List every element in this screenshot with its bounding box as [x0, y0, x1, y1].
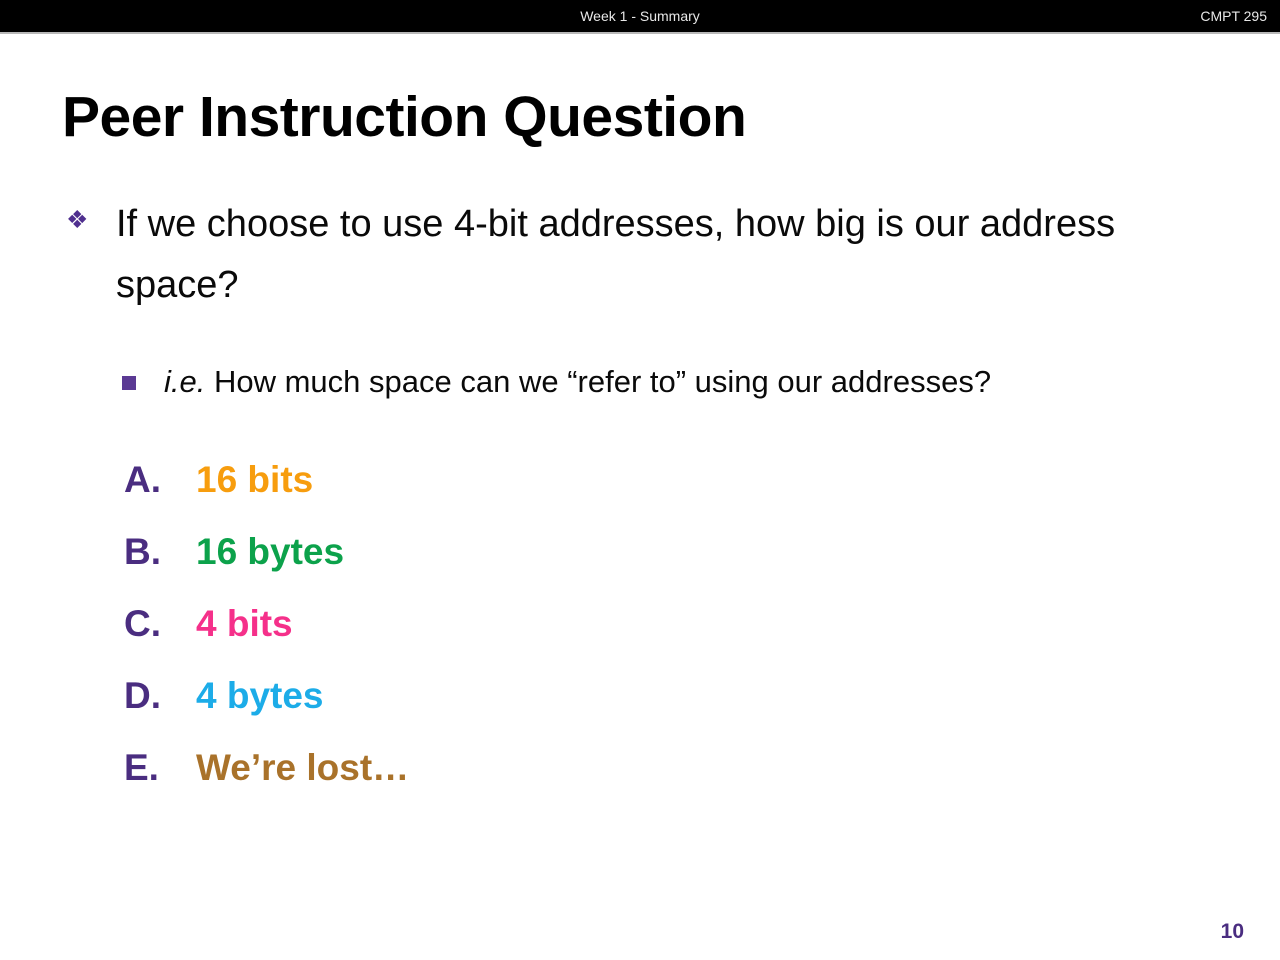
page-title: Peer Instruction Question — [62, 84, 746, 150]
answer-option-a-letter: A. — [124, 459, 196, 501]
answer-option-e-letter: E. — [124, 747, 196, 789]
slide-header-bar: Week 1 - Summary CMPT 295 — [0, 0, 1280, 32]
answer-option-e-text: We’re lost… — [196, 747, 409, 789]
bullet-level2-rest: How much space can we “refer to” using o… — [214, 364, 991, 399]
header-course-code: CMPT 295 — [1200, 0, 1267, 32]
answer-option-a[interactable]: A. 16 bits — [124, 459, 409, 531]
answer-option-a-text: 16 bits — [196, 459, 313, 501]
answer-option-d[interactable]: D. 4 bytes — [124, 675, 409, 747]
bullet-level1-text: If we choose to use 4-bit addresses, how… — [116, 194, 1226, 316]
answer-option-b-letter: B. — [124, 531, 196, 573]
answer-option-d-letter: D. — [124, 675, 196, 717]
square-bullet-icon — [122, 376, 136, 390]
answer-option-d-text: 4 bytes — [196, 675, 324, 717]
bullet-level2-emphasis: i.e. — [164, 364, 205, 399]
bullet-level2-text: i.e. How much space can we “refer to” us… — [164, 359, 991, 405]
bullet-level1: ❖ If we choose to use 4-bit addresses, h… — [66, 194, 1226, 316]
header-center-title: Week 1 - Summary — [0, 0, 1280, 32]
diamond-cluster-bullet-icon: ❖ — [66, 194, 116, 233]
answer-option-b[interactable]: B. 16 bytes — [124, 531, 409, 603]
answer-option-c-letter: C. — [124, 603, 196, 645]
slide-page-number: 10 — [1221, 920, 1244, 944]
bullet-level2: i.e. How much space can we “refer to” us… — [122, 359, 1242, 405]
answer-option-c[interactable]: C. 4 bits — [124, 603, 409, 675]
answer-option-e[interactable]: E. We’re lost… — [124, 747, 409, 819]
slide-body: Peer Instruction Question ❖ If we choose… — [0, 34, 1280, 960]
answer-option-c-text: 4 bits — [196, 603, 293, 645]
answer-option-b-text: 16 bytes — [196, 531, 344, 573]
answer-options-list: A. 16 bits B. 16 bytes C. 4 bits D. 4 by… — [124, 459, 409, 819]
